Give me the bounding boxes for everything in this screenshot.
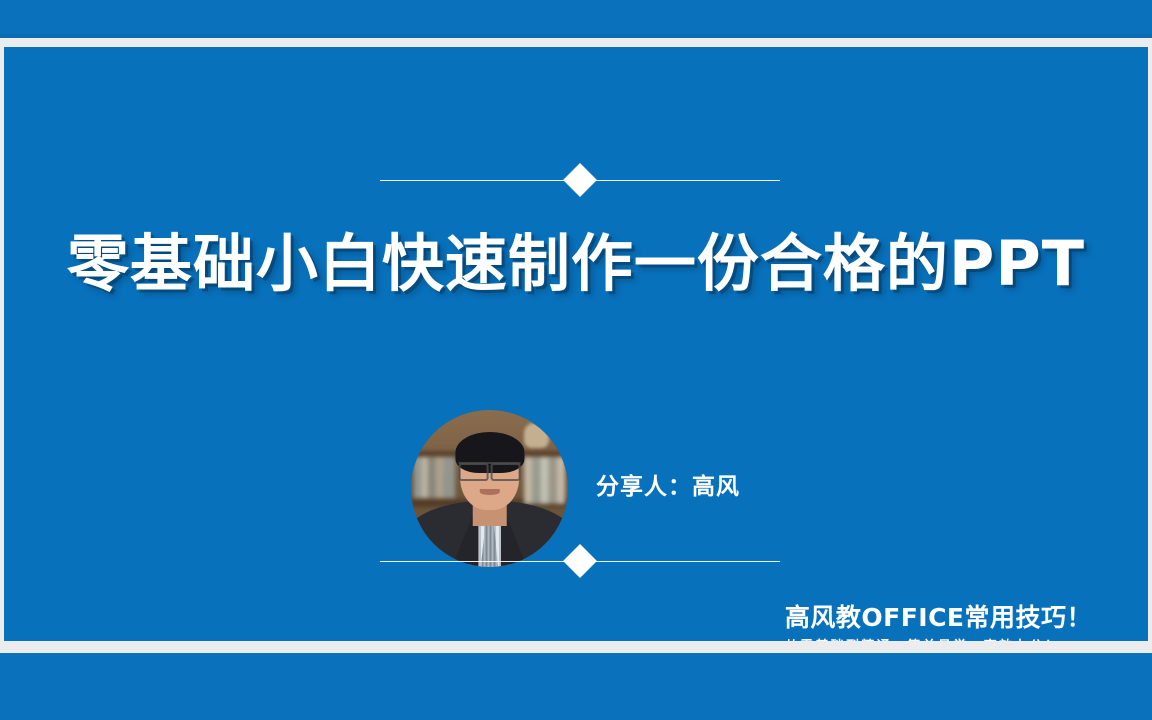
diamond-divider-bottom	[380, 541, 780, 581]
brand-tagline: 从零基础到精通，简单易学，高效办公！	[785, 640, 1092, 641]
diamond-divider-top	[380, 160, 780, 200]
diamond-icon	[563, 163, 597, 197]
bottom-decorative-band	[0, 653, 1152, 720]
brand-block: 高风教OFFICE常用技巧！ 从零基础到精通，简单易学，高效办公！	[785, 604, 1092, 641]
presentation-slide: 零基础小白快速制作一份合格的PPT 分享人：高风 高风教OFFICE常	[0, 0, 1152, 720]
books-right	[524, 457, 565, 504]
diamond-icon	[563, 544, 597, 578]
page-title: 零基础小白快速制作一份合格的PPT	[4, 227, 1148, 300]
top-decorative-band	[0, 0, 1152, 34]
top-band-edge	[0, 34, 1152, 38]
vase-decor	[524, 423, 549, 448]
brand-title: 高风教OFFICE常用技巧！	[785, 604, 1092, 633]
presenter-name: 分享人：高风	[596, 467, 740, 501]
books-left	[414, 457, 455, 498]
glasses-icon	[458, 462, 521, 478]
slide-content-panel: 零基础小白快速制作一份合格的PPT 分享人：高风 高风教OFFICE常	[4, 47, 1148, 641]
